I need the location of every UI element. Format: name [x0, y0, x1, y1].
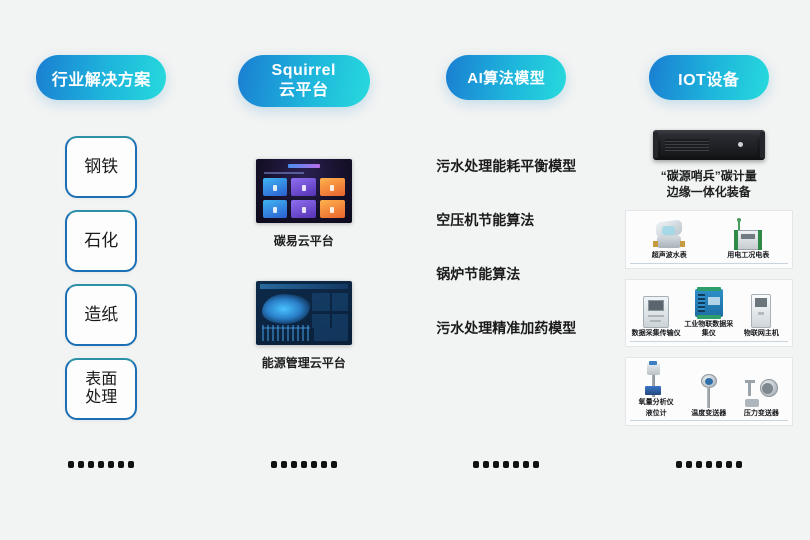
iot-host-icon	[751, 294, 771, 328]
industry-label: 表面处理	[85, 371, 117, 406]
card-divider	[630, 420, 788, 421]
platform-caption: 能源管理云平台	[262, 354, 346, 371]
algorithm-item-wastewater-energy-balance[interactable]: 污水处理能耗平衡模型	[436, 156, 576, 176]
industry-box-petrochemical[interactable]: 石化	[65, 210, 137, 272]
server-vent-grille	[665, 139, 709, 151]
platform-carbon-cloud[interactable]: 碳易云平台	[256, 159, 352, 249]
dot	[331, 461, 337, 468]
dashboard-tile	[291, 178, 316, 196]
dashboard-subtitle-line	[264, 172, 304, 174]
platform-energy-management[interactable]: 能源管理云平台	[256, 281, 352, 371]
device-row: 数据采集传输仪 工业物联数据采集仪	[630, 285, 788, 339]
device-label: 压力变送器	[744, 410, 779, 419]
device-label: 物联网主机	[744, 330, 779, 339]
header-line-2: 云平台	[279, 81, 329, 101]
screenshot-carbon-cloud-platform	[256, 159, 352, 223]
dashboard-panel	[312, 314, 330, 328]
dot	[513, 461, 519, 468]
dot	[523, 461, 529, 468]
io-module-icon	[695, 285, 723, 319]
continuation-dots-ai-algorithms	[473, 461, 539, 468]
continuation-dots-cloud-platform	[271, 461, 337, 468]
industry-box-papermaking[interactable]: 造纸	[65, 284, 137, 346]
device-row: 氧量分析仪 液位计 温度变送器	[630, 363, 788, 419]
dot	[676, 461, 682, 468]
device-ultrasonic-water-meter[interactable]: 超声波水表	[642, 216, 696, 261]
device-label: 温度变送器	[691, 410, 726, 419]
dashboard-tile	[320, 200, 345, 218]
device-temperature-transmitter[interactable]: 温度变送器	[682, 374, 735, 419]
server-indicator-led	[738, 142, 743, 147]
header-line-1: Squirrel	[272, 61, 336, 81]
electric-meter-icon	[732, 216, 764, 250]
column-industry-solutions: 行业解决方案 钢铁 石化 造纸 表面处理	[0, 0, 203, 540]
device-industrial-iot-collector[interactable]: 工业物联数据采集仪	[682, 285, 735, 339]
edge-device-carbon-sentinel[interactable]: “碳源哨兵”碳计量 边缘一体化装备	[653, 130, 765, 200]
dot	[716, 461, 722, 468]
screenshot-energy-management-platform	[256, 281, 352, 345]
continuation-dots-industry	[68, 461, 134, 468]
device-card-sensors: 氧量分析仪 液位计 温度变送器	[625, 357, 793, 427]
water-meter-icon	[654, 216, 684, 250]
dot	[321, 461, 327, 468]
device-card-collectors: 数据采集传输仪 工业物联数据采集仪	[625, 279, 793, 347]
column-cloud-platform: Squirrel 云平台 碳易云平台	[203, 0, 406, 540]
card-divider	[630, 263, 788, 264]
oxygen-analyzer-icon	[643, 363, 669, 397]
device-iot-host[interactable]: 物联网主机	[735, 294, 788, 339]
dot	[301, 461, 307, 468]
edge-caption-line-1: “碳源哨兵”碳计量	[661, 169, 757, 183]
industry-label: 钢铁	[84, 158, 118, 177]
dashboard-title-bar	[288, 164, 320, 168]
platform-caption: 碳易云平台	[274, 232, 334, 249]
dot	[503, 461, 509, 468]
dot	[311, 461, 317, 468]
device-power-monitoring-meter[interactable]: 用电工况电表	[721, 216, 775, 261]
device-oxygen-analyzer[interactable]: 氧量分析仪 液位计	[630, 363, 683, 419]
device-data-acquisition-transmitter[interactable]: 数据采集传输仪	[630, 294, 683, 339]
dot	[533, 461, 539, 468]
dot	[291, 461, 297, 468]
device-label: 氧量分析仪	[639, 399, 674, 408]
edge-caption-line-2: 边缘一体化装备	[667, 185, 751, 199]
header-iot-devices[interactable]: IOT设备	[649, 55, 769, 100]
cabinet-icon	[643, 294, 669, 328]
dashboard-header-bar	[260, 284, 348, 289]
dashboard-tile	[320, 178, 345, 196]
dot	[128, 461, 134, 468]
device-row: 超声波水表 用电工况电表	[630, 216, 788, 261]
solution-architecture-board: 行业解决方案 钢铁 石化 造纸 表面处理 S	[0, 0, 810, 540]
dashboard-tile-grid	[263, 178, 345, 218]
device-label-extra: 液位计	[646, 408, 667, 418]
header-industry-solutions[interactable]: 行业解决方案	[36, 55, 166, 100]
dot	[108, 461, 114, 468]
industry-label: 造纸	[84, 306, 118, 325]
dot	[706, 461, 712, 468]
dot	[493, 461, 499, 468]
pressure-transmitter-icon	[744, 374, 778, 408]
dot	[686, 461, 692, 468]
algorithm-item-air-compressor[interactable]: 空压机节能算法	[436, 210, 534, 230]
dot	[473, 461, 479, 468]
dashboard-tile	[263, 178, 288, 196]
algorithm-item-boiler[interactable]: 锅炉节能算法	[436, 264, 520, 284]
header-cloud-platform[interactable]: Squirrel 云平台	[238, 55, 370, 107]
server-chassis-icon	[653, 130, 765, 160]
industry-box-surface-treatment[interactable]: 表面处理	[65, 358, 137, 420]
dot	[483, 461, 489, 468]
device-label: 工业物联数据采集仪	[682, 321, 735, 339]
device-label: 数据采集传输仪	[632, 330, 681, 339]
dashboard-tile	[291, 200, 316, 218]
dot	[726, 461, 732, 468]
algorithm-item-wastewater-dosing[interactable]: 污水处理精准加药模型	[436, 318, 576, 338]
dot	[118, 461, 124, 468]
device-label: 用电工况电表	[727, 252, 769, 261]
edge-device-caption: “碳源哨兵”碳计量 边缘一体化装备	[661, 168, 757, 200]
algorithm-list: 污水处理能耗平衡模型 空压机节能算法 锅炉节能算法 污水处理精准加药模型	[436, 156, 576, 338]
dashboard-divider	[262, 327, 310, 329]
column-iot-devices: IOT设备 “碳源哨兵”碳计量 边缘一体化装备	[608, 0, 810, 540]
dot	[736, 461, 742, 468]
industry-box-list: 钢铁 石化 造纸 表面处理	[65, 136, 137, 420]
dot	[78, 461, 84, 468]
dot	[68, 461, 74, 468]
dashboard-panel	[314, 328, 348, 341]
dashboard-panel	[332, 314, 348, 328]
dot	[88, 461, 94, 468]
dot	[271, 461, 277, 468]
continuation-dots-iot-devices	[676, 461, 742, 468]
device-label: 超声波水表	[652, 252, 687, 261]
platform-thumbnail-list: 碳易云平台 能源管理云平台	[256, 159, 352, 371]
temperature-transmitter-icon	[699, 374, 719, 408]
device-card-meters: 超声波水表 用电工况电表	[625, 210, 793, 269]
dot	[696, 461, 702, 468]
header-ai-algorithms[interactable]: AI算法模型	[446, 55, 566, 100]
dot	[98, 461, 104, 468]
industry-box-steel[interactable]: 钢铁	[65, 136, 137, 198]
server-rack-ear-left	[653, 132, 658, 158]
card-divider	[630, 341, 788, 342]
dashboard-map-graphic	[262, 294, 310, 324]
dot	[281, 461, 287, 468]
iot-device-gallery: “碳源哨兵”碳计量 边缘一体化装备 超声波水表	[625, 130, 793, 426]
column-ai-algorithms: AI算法模型 污水处理能耗平衡模型 空压机节能算法 锅炉节能算法 污水处理精准加…	[405, 0, 608, 540]
dashboard-panel	[312, 293, 330, 311]
dashboard-tile	[263, 200, 288, 218]
device-pressure-transmitter[interactable]: 压力变送器	[735, 374, 788, 419]
industry-label: 石化	[84, 232, 118, 251]
dashboard-panel	[332, 293, 348, 311]
server-rack-ear-right	[760, 132, 765, 158]
